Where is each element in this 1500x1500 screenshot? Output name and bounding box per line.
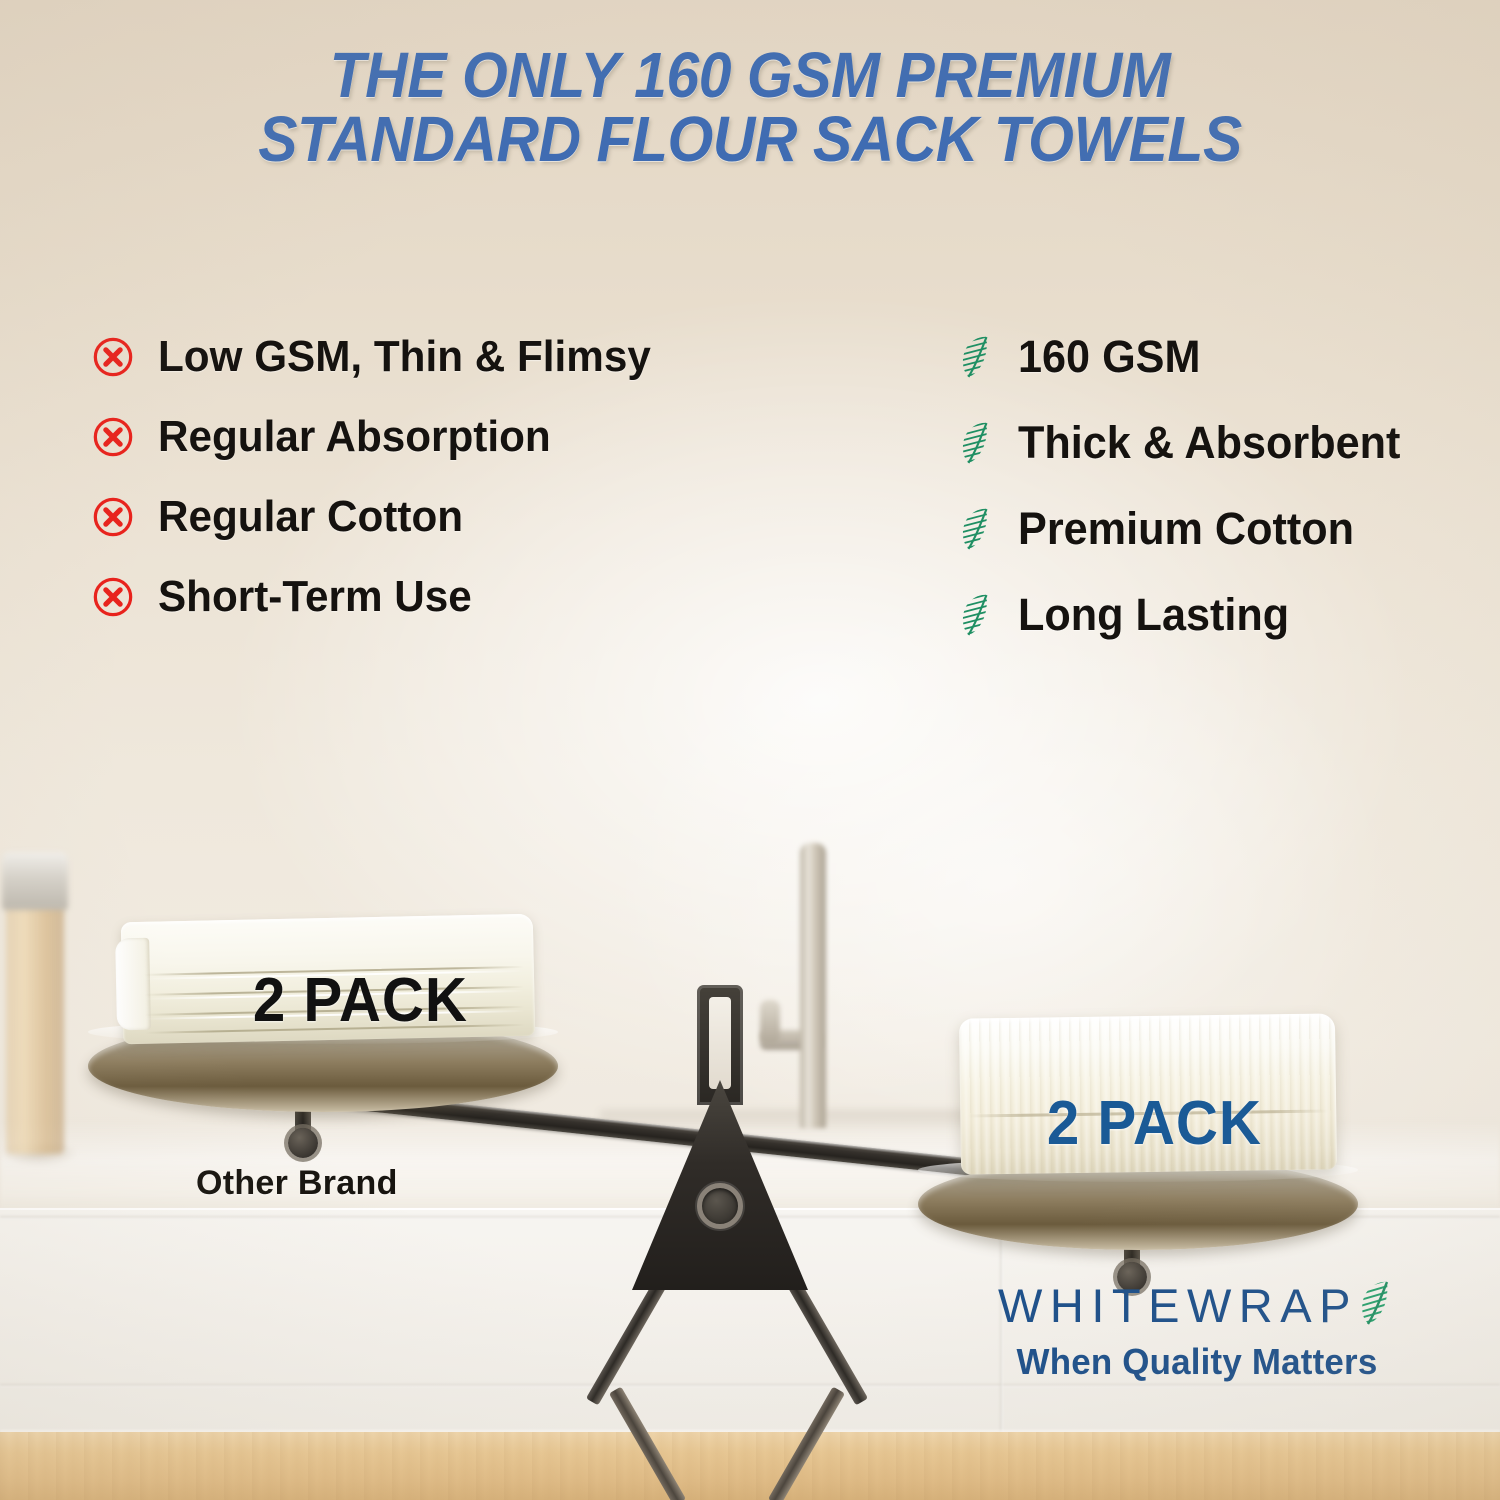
logo-wordmark-row: WHITEWRAP	[962, 1282, 1432, 1329]
scale-base-left	[609, 1387, 686, 1500]
product-comparison-infographic: THE ONLY 160 GSM PREMIUM STANDARD FLOUR …	[0, 0, 1500, 1500]
brand-logo: WHITEWRAP When	[962, 1282, 1432, 1383]
other-brand-caption: Other Brand	[196, 1164, 398, 1203]
left-pan-knob	[288, 1128, 318, 1158]
right-pack-badge: 2 PACK	[1047, 1088, 1262, 1159]
balance-scale: 2 PACK Other Brand 2 PACK	[0, 0, 1500, 1500]
logo-wordmark: WHITEWRAP	[998, 1282, 1358, 1329]
scale-base-right	[768, 1387, 845, 1500]
left-pack-badge: 2 PACK	[253, 965, 468, 1036]
leaf-icon	[1356, 1279, 1396, 1327]
scale-pivot-ring	[697, 1183, 743, 1229]
logo-tagline: When Quality Matters	[969, 1341, 1425, 1383]
scale-pointer-slot	[709, 997, 731, 1089]
